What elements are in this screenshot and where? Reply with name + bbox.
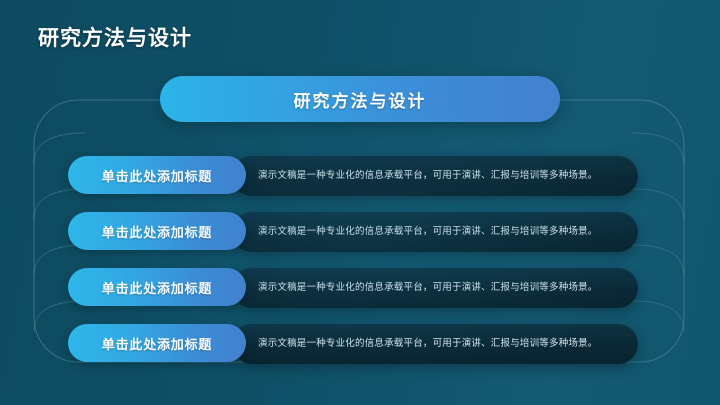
- row-body-text: 演示文稿是一种专业化的信息承载平台，可用于演讲、汇报与培训等多种场景。: [258, 225, 598, 238]
- row-label-text: 单击此处添加标题: [102, 334, 212, 353]
- content-row: 演示文稿是一种专业化的信息承载平台，可用于演讲、汇报与培训等多种场景。 单击此处…: [0, 324, 720, 364]
- row-body-text: 演示文稿是一种专业化的信息承载平台，可用于演讲、汇报与培训等多种场景。: [258, 281, 598, 294]
- row-label-text: 单击此处添加标题: [102, 166, 212, 185]
- slide-canvas: 研究方法与设计 研究方法与设计 演示文稿是一种专业化的信息承载平台，可用于演讲、…: [0, 0, 720, 405]
- content-row: 演示文稿是一种专业化的信息承载平台，可用于演讲、汇报与培训等多种场景。 单击此处…: [0, 156, 720, 196]
- row-label-pill[interactable]: 单击此处添加标题: [68, 156, 246, 194]
- row-body-text: 演示文稿是一种专业化的信息承载平台，可用于演讲、汇报与培训等多种场景。: [258, 169, 598, 182]
- row-label-pill[interactable]: 单击此处添加标题: [68, 268, 246, 306]
- content-rows: 演示文稿是一种专业化的信息承载平台，可用于演讲、汇报与培训等多种场景。 单击此处…: [0, 0, 720, 405]
- content-row: 演示文稿是一种专业化的信息承载平台，可用于演讲、汇报与培训等多种场景。 单击此处…: [0, 268, 720, 308]
- row-label-text: 单击此处添加标题: [102, 278, 212, 297]
- row-body-capsule: 演示文稿是一种专业化的信息承载平台，可用于演讲、汇报与培训等多种场景。: [232, 268, 638, 308]
- row-label-pill[interactable]: 单击此处添加标题: [68, 212, 246, 250]
- row-body-capsule: 演示文稿是一种专业化的信息承载平台，可用于演讲、汇报与培训等多种场景。: [232, 324, 638, 364]
- row-body-capsule: 演示文稿是一种专业化的信息承载平台，可用于演讲、汇报与培训等多种场景。: [232, 156, 638, 196]
- row-label-pill[interactable]: 单击此处添加标题: [68, 324, 246, 362]
- row-label-text: 单击此处添加标题: [102, 222, 212, 241]
- row-body-text: 演示文稿是一种专业化的信息承载平台，可用于演讲、汇报与培训等多种场景。: [258, 337, 598, 350]
- content-row: 演示文稿是一种专业化的信息承载平台，可用于演讲、汇报与培训等多种场景。 单击此处…: [0, 212, 720, 252]
- row-body-capsule: 演示文稿是一种专业化的信息承载平台，可用于演讲、汇报与培训等多种场景。: [232, 212, 638, 252]
